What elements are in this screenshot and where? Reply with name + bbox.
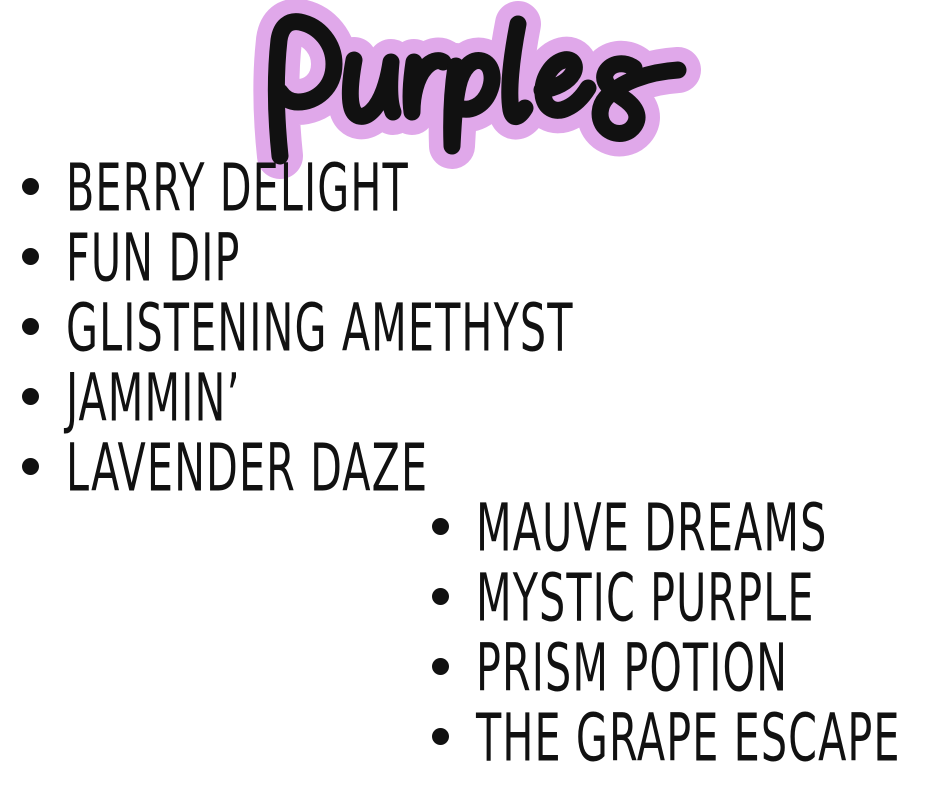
list-item-label: FUN DIP: [66, 221, 241, 295]
list-item[interactable]: PRISM POTION: [424, 632, 934, 702]
list-item[interactable]: BERRY DELIGHT: [14, 152, 714, 222]
list-item-label: PRISM POTION: [476, 631, 788, 705]
list-item-label: MYSTIC PURPLE: [476, 561, 815, 635]
bullet-icon: [22, 388, 39, 405]
bullet-icon: [432, 728, 449, 745]
list-item-label: GLISTENING AMETHYST: [66, 291, 574, 365]
list-item[interactable]: MYSTIC PURPLE: [424, 562, 934, 632]
bullet-icon: [432, 588, 449, 605]
bullet-icon: [432, 518, 449, 535]
bullet-icon: [22, 178, 39, 195]
bullet-icon: [22, 318, 39, 335]
color-name-list-secondary: MAUVE DREAMS MYSTIC PURPLE PRISM POTION …: [424, 492, 934, 772]
page-title: Purples: [208, 2, 728, 162]
bullet-icon: [22, 248, 39, 265]
list-item[interactable]: JAMMIN’: [14, 362, 714, 432]
page-title-script-artwork: [208, 2, 728, 162]
list-item[interactable]: GLISTENING AMETHYST: [14, 292, 714, 362]
list-item[interactable]: THE GRAPE ESCAPE: [424, 702, 934, 772]
list-item-label: LAVENDER DAZE: [66, 431, 428, 505]
list-item-label: JAMMIN’: [66, 361, 241, 435]
list-item-label: THE GRAPE ESCAPE: [476, 701, 901, 775]
bullet-icon: [22, 458, 39, 475]
color-name-list-primary: BERRY DELIGHT FUN DIP GLISTENING AMETHYS…: [14, 152, 714, 502]
list-item-label: BERRY DELIGHT: [66, 151, 409, 225]
list-item[interactable]: MAUVE DREAMS: [424, 492, 934, 562]
purples-color-name-list-page: Purples: [0, 0, 940, 788]
list-item-label: MAUVE DREAMS: [476, 491, 827, 565]
bullet-icon: [432, 658, 449, 675]
list-item[interactable]: FUN DIP: [14, 222, 714, 292]
